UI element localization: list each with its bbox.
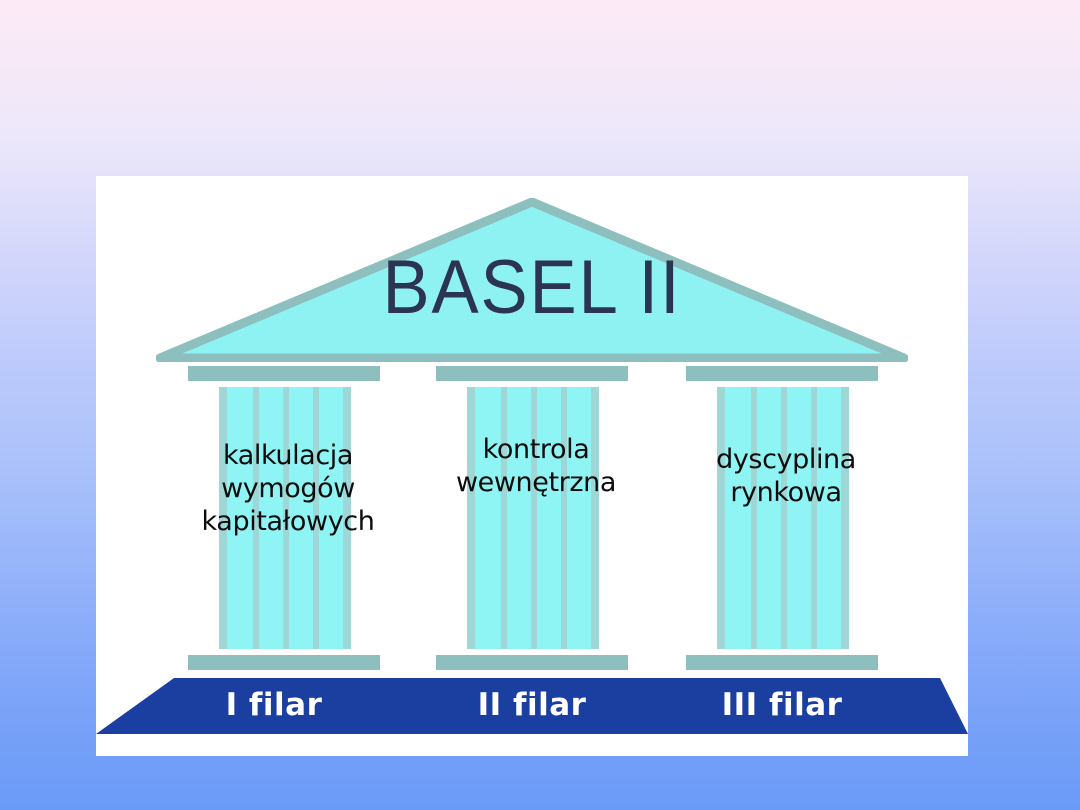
column-1-caption-line-3: kapitałowych bbox=[138, 506, 438, 539]
column-3-caption: dyscyplina rynkowa bbox=[636, 444, 936, 510]
column-3-plinth bbox=[686, 655, 878, 670]
column-3-caption-line-2: rynkowa bbox=[636, 477, 936, 510]
column-2 bbox=[436, 366, 628, 670]
temple-roof: BASEL II bbox=[156, 198, 908, 362]
diagram-panel: BASEL II kalkulacja wymogów kapitałowych bbox=[96, 176, 968, 756]
slide-canvas: BASEL II kalkulacja wymogów kapitałowych bbox=[0, 0, 1080, 810]
column-3-caption-line-1: dyscyplina bbox=[636, 444, 936, 477]
column-1-capital bbox=[188, 366, 380, 381]
column-2-plinth bbox=[436, 655, 628, 670]
diagram-title: BASEL II bbox=[182, 250, 881, 326]
column-1-plinth bbox=[188, 655, 380, 670]
column-3-shaft bbox=[717, 387, 849, 649]
pillar-label-1: I filar bbox=[154, 688, 394, 722]
pillar-label-2: II filar bbox=[412, 688, 652, 722]
column-2-shaft bbox=[467, 387, 599, 649]
temple-base: I filar II filar III filar bbox=[96, 676, 968, 738]
column-2-capital bbox=[436, 366, 628, 381]
column-3 bbox=[686, 366, 878, 670]
column-3-capital bbox=[686, 366, 878, 381]
pillar-label-3: III filar bbox=[662, 688, 902, 722]
